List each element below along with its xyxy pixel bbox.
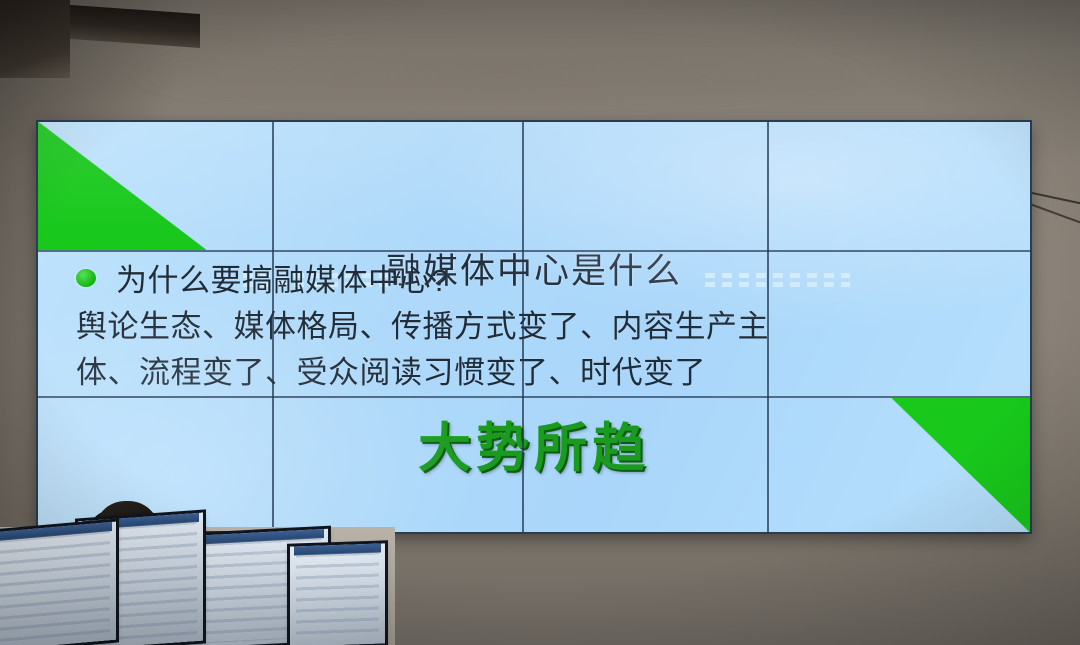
bullet-item: 为什么要搞融媒体中心? [76, 258, 990, 304]
video-wall-display[interactable]: 融媒体中心是什么 为什么要搞融媒体中心? 舆论生态、媒体格局、传播方式变了、内容… [38, 122, 1030, 532]
foreground-workstation [0, 510, 395, 645]
presentation-slide: 融媒体中心是什么 为什么要搞融媒体中心? 舆论生态、媒体格局、传播方式变了、内容… [38, 122, 1030, 532]
panel-seam-vertical-2 [522, 122, 524, 532]
monitor-4-document [296, 552, 379, 643]
panel-seam-vertical-3 [767, 122, 769, 532]
monitor-4 [290, 543, 385, 645]
panel-seam-horizontal-2 [38, 396, 1030, 398]
bullet-line-2: 舆论生态、媒体格局、传播方式变了、内容生产主 [76, 304, 990, 350]
corner-accent-top-left [38, 122, 206, 250]
slide-headline: 大势所趋 [38, 422, 1030, 475]
panel-seam-horizontal-1 [38, 250, 1030, 252]
slide-body: 为什么要搞融媒体中心? 舆论生态、媒体格局、传播方式变了、内容生产主 体、流程变… [76, 258, 990, 396]
monitor-1-document [0, 530, 110, 645]
bullet-line-3: 体、流程变了、受众阅读习惯变了、时代变了 [76, 350, 990, 396]
screenshot-root: 融媒体中心是什么 为什么要搞融媒体中心? 舆论生态、媒体格局、传播方式变了、内容… [0, 0, 1080, 645]
bullet-dot-icon [76, 269, 96, 287]
ceiling-corner-shadow [0, 0, 70, 78]
wall-shading [120, 40, 880, 110]
panel-seam-vertical-1 [272, 122, 274, 532]
monitor-1 [0, 522, 116, 645]
bullet-line-1: 为什么要搞融媒体中心? [116, 258, 449, 304]
